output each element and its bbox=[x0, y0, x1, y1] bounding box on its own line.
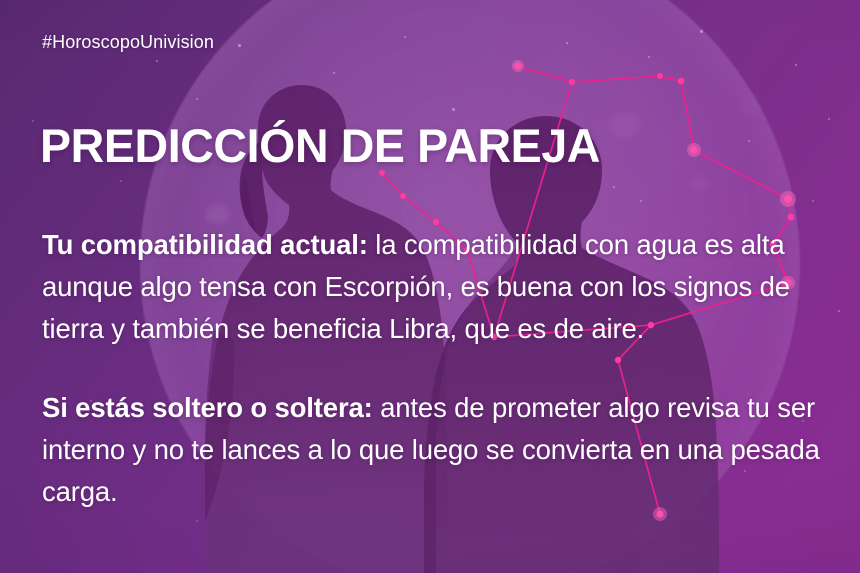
hashtag-label: #HoroscopoUnivision bbox=[42, 32, 214, 53]
paragraph-lead: Si estás soltero o soltera: bbox=[42, 392, 373, 423]
paragraph-lead: Tu compatibilidad actual: bbox=[42, 229, 368, 260]
page-title: PREDICCIÓN DE PAREJA bbox=[40, 121, 600, 171]
paragraph-single: Si estás soltero o soltera: antes de pro… bbox=[42, 387, 832, 513]
horoscope-card: #HoroscopoUnivision PREDICCIÓN DE PAREJA… bbox=[0, 0, 860, 573]
card-content: #HoroscopoUnivision PREDICCIÓN DE PAREJA… bbox=[0, 0, 860, 573]
paragraph-compatibility: Tu compatibilidad actual: la compatibili… bbox=[42, 224, 832, 350]
body-copy: Tu compatibilidad actual: la compatibili… bbox=[42, 196, 832, 540]
